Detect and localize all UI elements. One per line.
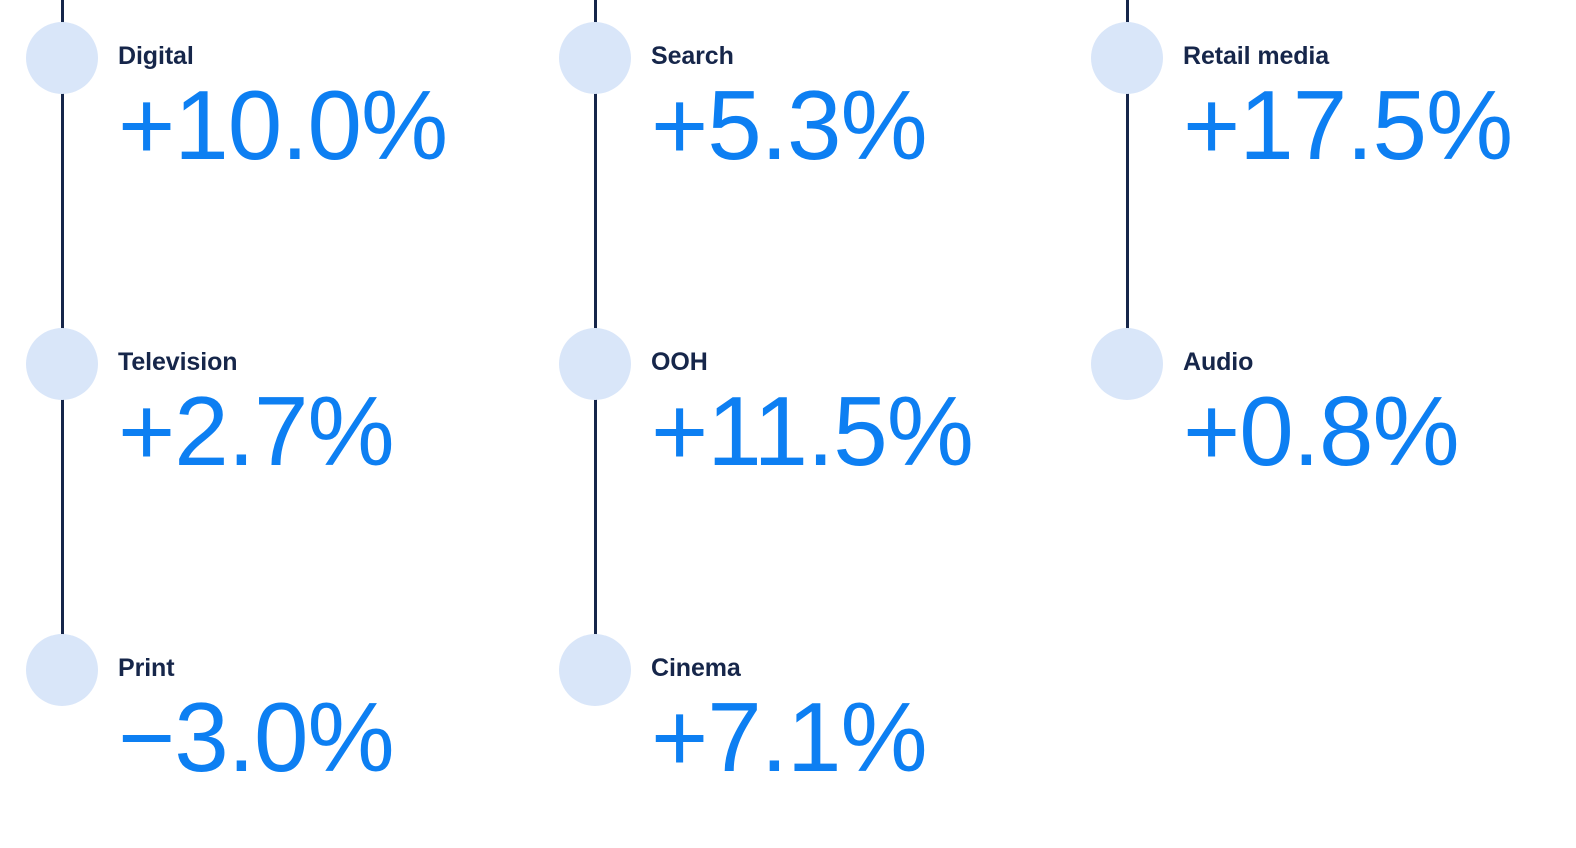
timeline-node-audio	[1091, 328, 1163, 400]
metric-label-digital: Digital	[118, 44, 538, 69]
metric-value-search: +5.3%	[651, 75, 1071, 177]
metric-value-audio: +0.8%	[1183, 381, 1576, 483]
metric-label-search: Search	[651, 44, 1071, 69]
metric-label-retail-media: Retail media	[1183, 44, 1576, 69]
metric-cinema: Cinema +7.1%	[651, 656, 1071, 789]
timeline-node-television	[26, 328, 98, 400]
timeline-node-print	[26, 634, 98, 706]
metric-label-television: Television	[118, 350, 538, 375]
timeline-node-digital	[26, 22, 98, 94]
metric-value-digital: +10.0%	[118, 75, 538, 177]
metric-value-print: −3.0%	[118, 687, 538, 789]
metrics-board: Digital +10.0% Television +2.7% Print −3…	[0, 0, 1576, 848]
metric-label-print: Print	[118, 656, 538, 681]
timeline-node-search	[559, 22, 631, 94]
metric-value-television: +2.7%	[118, 381, 538, 483]
metric-television: Television +2.7%	[118, 350, 538, 483]
timeline-node-cinema	[559, 634, 631, 706]
metric-label-ooh: OOH	[651, 350, 1071, 375]
metric-label-cinema: Cinema	[651, 656, 1071, 681]
metric-label-audio: Audio	[1183, 350, 1576, 375]
metric-audio: Audio +0.8%	[1183, 350, 1576, 483]
metric-value-cinema: +7.1%	[651, 687, 1071, 789]
metric-search: Search +5.3%	[651, 44, 1071, 177]
timeline-node-retail-media	[1091, 22, 1163, 94]
metric-value-retail-media: +17.5%	[1183, 75, 1576, 177]
metric-print: Print −3.0%	[118, 656, 538, 789]
metric-retail-media: Retail media +17.5%	[1183, 44, 1576, 177]
timeline-node-ooh	[559, 328, 631, 400]
metric-ooh: OOH +11.5%	[651, 350, 1071, 483]
metric-value-ooh: +11.5%	[651, 381, 1071, 483]
metric-digital: Digital +10.0%	[118, 44, 538, 177]
